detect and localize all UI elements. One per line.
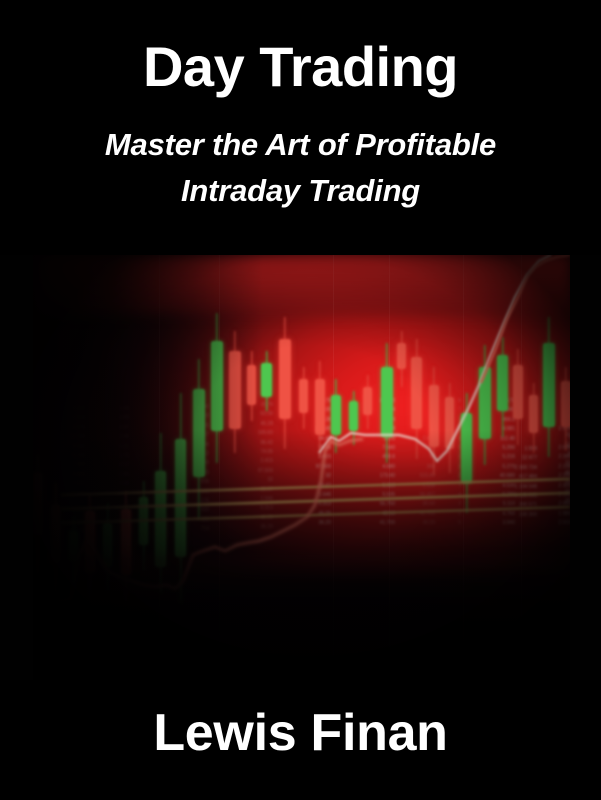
title-block: Day Trading Master the Art of Profitable… — [0, 0, 601, 255]
vignette-overlay — [33, 255, 570, 680]
cover-artwork-photo: 8 4526 3104 87012 3509 640 5 1257 3003 8… — [33, 255, 570, 680]
book-cover: 8 4526 3104 87012 3509 640 5 1257 3003 8… — [0, 0, 601, 800]
subtitle-line-2: Intraday Trading — [0, 168, 601, 214]
author-block: Lewis Finan — [0, 680, 601, 800]
subtitle-line-1: Master the Art of Profitable — [0, 122, 601, 168]
book-subtitle: Master the Art of Profitable Intraday Tr… — [0, 100, 601, 214]
page-title: Day Trading — [0, 0, 601, 100]
author-name: Lewis Finan — [0, 680, 601, 764]
